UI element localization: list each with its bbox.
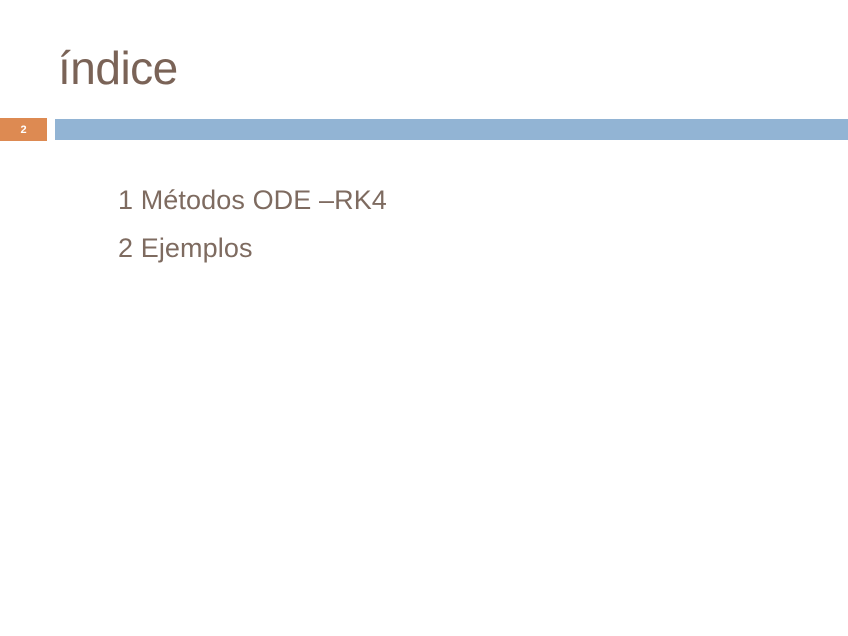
title-divider: 2 (0, 118, 848, 141)
divider-bar (55, 119, 848, 140)
list-item: 1 Métodos ODE –RK4 (118, 176, 758, 224)
presentation-slide: índice 2 1 Métodos ODE –RK4 2 Ejemplos (0, 0, 848, 636)
page-title: índice (58, 42, 178, 94)
agenda-list: 1 Métodos ODE –RK4 2 Ejemplos (118, 176, 758, 272)
list-item: 2 Ejemplos (118, 224, 758, 272)
slide-number-badge: 2 (0, 118, 47, 141)
